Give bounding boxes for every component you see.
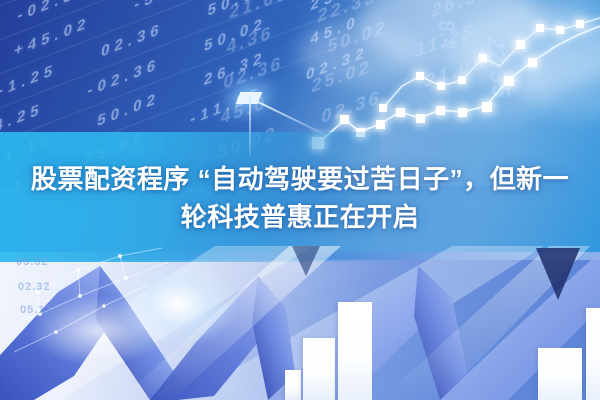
bar-item xyxy=(285,370,301,400)
small-value-label: 05.12 xyxy=(20,304,53,316)
bar-item xyxy=(538,348,582,400)
banner-canvas: 45.02-02.3621.0545.0210.02 -11.25-02.364… xyxy=(0,0,600,400)
headline-line-2: 轮科技普惠正在开启 xyxy=(18,198,582,236)
navy-wedge-2 xyxy=(292,246,320,276)
trend-line-lower xyxy=(318,26,600,143)
bar-item xyxy=(303,338,335,400)
bar-item xyxy=(338,302,372,400)
page-title: 股票配资程序 “自动驾驶要过苦日子”，但新一 轮科技普惠正在开启 xyxy=(0,160,600,236)
small-value-label: 05.32 xyxy=(16,256,49,268)
small-value-label: 02.32 xyxy=(18,281,51,293)
bar-item xyxy=(586,308,600,400)
trend-line-upper xyxy=(383,18,600,108)
navy-wedge xyxy=(536,248,580,300)
street-lamp-pole xyxy=(249,96,251,156)
headline-line-1: 股票配资程序 “自动驾驶要过苦日子”，但新一 xyxy=(18,160,582,198)
